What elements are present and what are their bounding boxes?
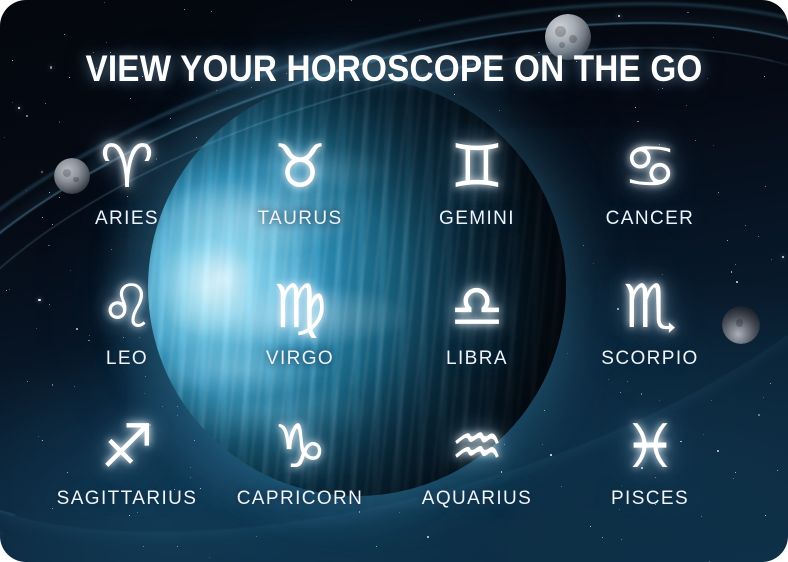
star [764,76,765,77]
zodiac-sign-sagittarius[interactable]: ♐SAGITTARIUS [43,406,211,510]
zodiac-sign-taurus[interactable]: ♉TAURUS [216,126,384,230]
zodiac-grid: ♈ARIES♉TAURUS♊GEMINI♋CANCER♌LEO♍VIRGO♎LI… [0,126,788,546]
leo-icon: ♌ [43,266,211,348]
gemini-icon: ♊ [393,126,561,208]
zodiac-row: ♈ARIES♉TAURUS♊GEMINI♋CANCER [0,126,788,266]
cancer-icon: ♋ [566,126,734,208]
star [104,2,105,3]
star [419,20,420,21]
pisces-icon: ♓ [566,406,734,488]
aquarius-icon: ♒ [393,406,561,488]
sagittarius-icon: ♐ [43,406,211,488]
moon-crater [569,35,577,43]
zodiac-sign-label: LIBRA [393,348,561,370]
star [106,42,107,43]
zodiac-sign-label: GEMINI [393,208,561,230]
zodiac-sign-scorpio[interactable]: ♏SCORPIO [566,266,734,370]
star [130,98,132,100]
star [709,561,710,562]
zodiac-sign-label: CANCER [566,208,734,230]
star [351,0,352,1]
zodiac-sign-label: LEO [43,348,211,370]
zodiac-sign-cancer[interactable]: ♋CANCER [566,126,734,230]
zodiac-sign-gemini[interactable]: ♊GEMINI [393,126,561,230]
zodiac-sign-leo[interactable]: ♌LEO [43,266,211,370]
zodiac-sign-label: CAPRICORN [216,488,384,510]
libra-icon: ♎ [393,266,561,348]
star [209,557,210,558]
zodiac-sign-label: SCORPIO [566,348,734,370]
star [184,9,185,10]
zodiac-sign-libra[interactable]: ♎LIBRA [393,266,561,370]
zodiac-sign-pisces[interactable]: ♓PISCES [566,406,734,510]
star [211,11,212,12]
page-title: VIEW YOUR HOROSCOPE ON THE GO [39,48,748,90]
star [713,37,714,38]
star [45,103,46,104]
zodiac-sign-label: SAGITTARIUS [43,488,211,510]
zodiac-sign-label: PISCES [566,488,734,510]
star [12,60,13,61]
zodiac-sign-aries[interactable]: ♈ARIES [43,126,211,230]
star [686,105,687,106]
zodiac-sign-capricorn[interactable]: ♑CAPRICORN [216,406,384,510]
star [376,546,377,547]
moon-crater [559,42,565,48]
zodiac-sign-label: TAURUS [216,208,384,230]
virgo-icon: ♍ [216,266,384,348]
capricorn-icon: ♑ [216,406,384,488]
taurus-icon: ♉ [216,126,384,208]
star [26,115,28,117]
horoscope-banner: VIEW YOUR HOROSCOPE ON THE GO ♈ARIES♉TAU… [0,0,788,562]
star [18,107,20,109]
star [59,121,61,123]
zodiac-row: ♌LEO♍VIRGO♎LIBRA♏SCORPIO [0,266,788,406]
zodiac-sign-aquarius[interactable]: ♒AQUARIUS [393,406,561,510]
star [64,34,65,35]
zodiac-sign-label: VIRGO [216,348,384,370]
star [635,107,636,108]
scorpio-icon: ♏ [566,266,734,348]
star [12,102,13,103]
star [618,15,620,17]
zodiac-sign-label: ARIES [43,208,211,230]
zodiac-sign-virgo[interactable]: ♍VIRGO [216,266,384,370]
star [687,12,689,14]
star [637,121,639,123]
aries-icon: ♈ [43,126,211,208]
zodiac-row: ♐SAGITTARIUS♑CAPRICORN♒AQUARIUS♓PISCES [0,406,788,546]
zodiac-sign-label: AQUARIUS [393,488,561,510]
